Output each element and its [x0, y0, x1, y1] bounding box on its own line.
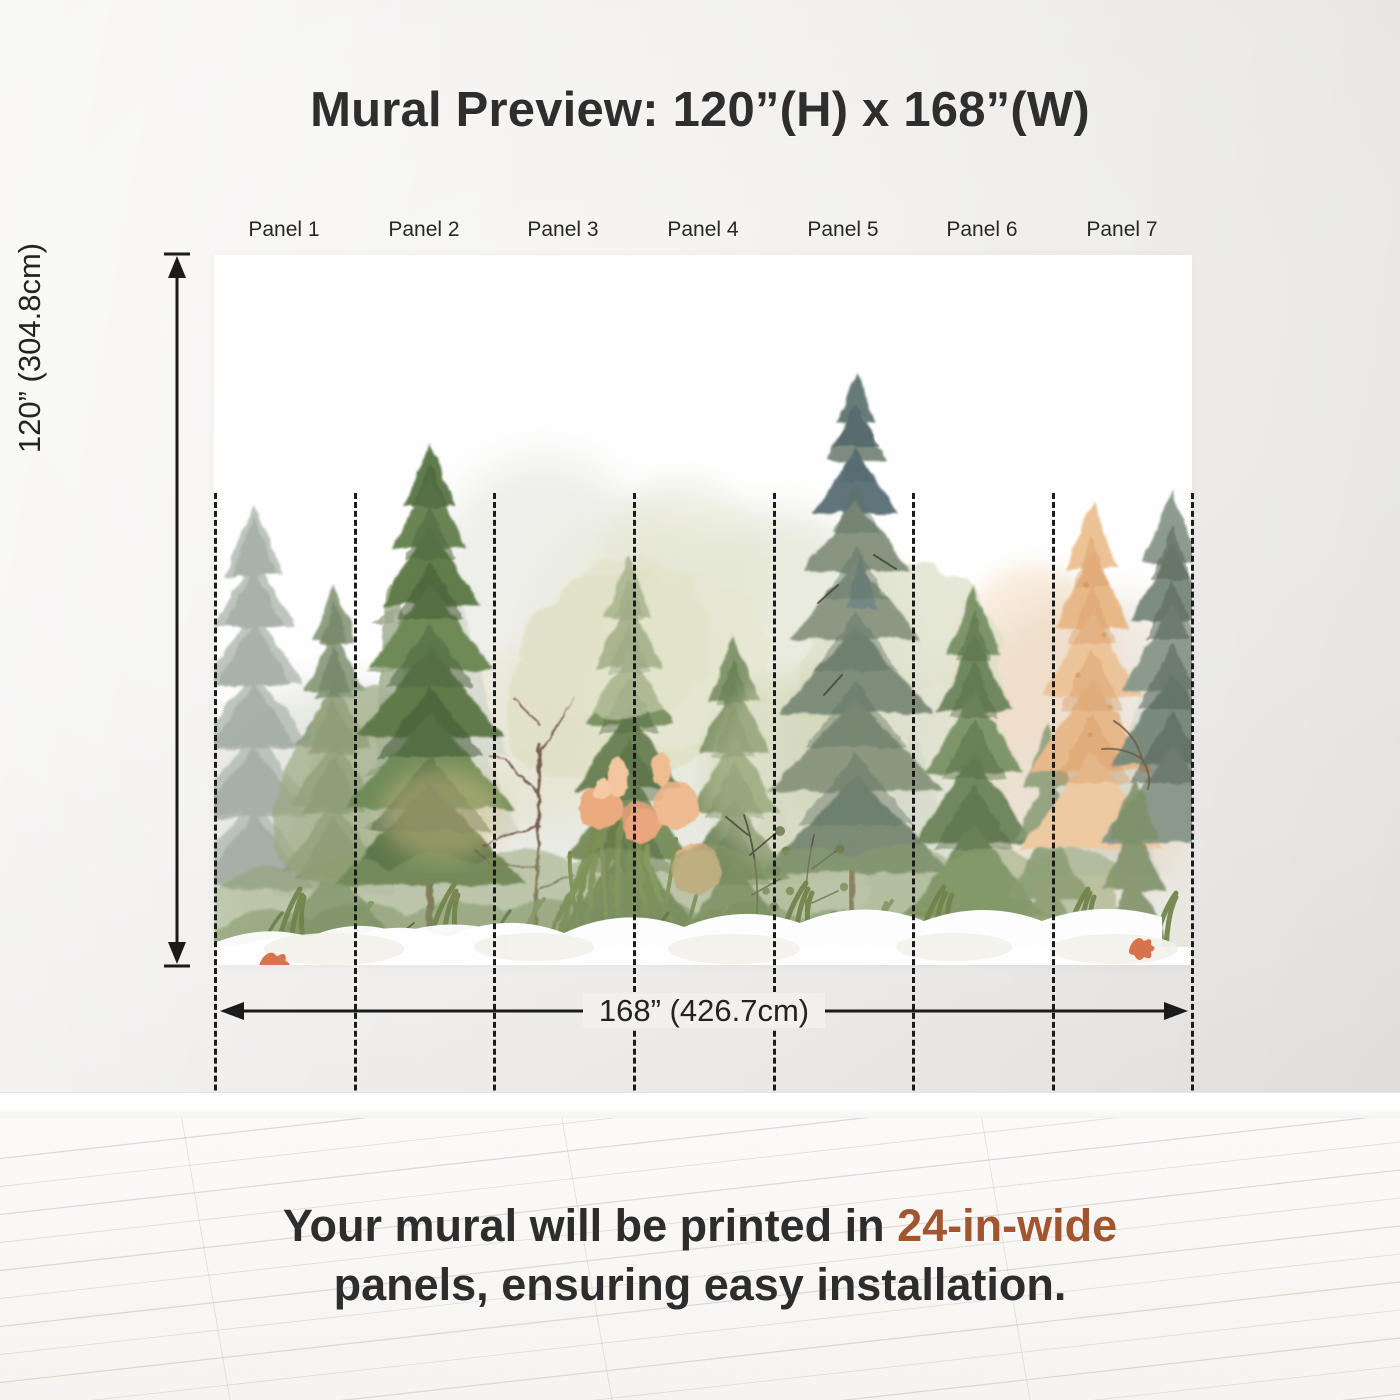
panel-label-1: Panel 1 — [214, 218, 354, 242]
mural-preview-area — [214, 255, 1192, 965]
panel-label-5: Panel 5 — [773, 218, 913, 242]
panel-label-4: Panel 4 — [633, 218, 773, 242]
height-dimension — [152, 248, 196, 972]
caption-line1-pre: Your mural will be printed in — [283, 1200, 897, 1251]
panel-label-7: Panel 7 — [1052, 218, 1192, 242]
panel-label-2: Panel 2 — [354, 218, 494, 242]
panel-label-6: Panel 6 — [912, 218, 1052, 242]
height-arrow-icon — [152, 248, 196, 972]
width-dimension-label: 168” (426.7cm) — [214, 993, 1194, 1029]
mural-artwork — [214, 255, 1192, 965]
width-dimension-text: 168” (426.7cm) — [583, 993, 825, 1028]
mural-preview-screenshot: Mural Preview: 120”(H) x 168”(W) — [0, 0, 1400, 1400]
baseboard — [0, 1092, 1400, 1119]
caption: Your mural will be printed in 24-in-wide… — [70, 1196, 1330, 1315]
panel-label-3: Panel 3 — [493, 218, 633, 242]
page-title: Mural Preview: 120”(H) x 168”(W) — [0, 82, 1400, 138]
watercolor-forest-illustration — [214, 255, 1192, 965]
caption-line2: panels, ensuring easy installation. — [334, 1259, 1067, 1310]
height-dimension-label: 120” (304.8cm) — [12, 168, 48, 528]
caption-highlight: 24-in-wide — [897, 1200, 1117, 1251]
